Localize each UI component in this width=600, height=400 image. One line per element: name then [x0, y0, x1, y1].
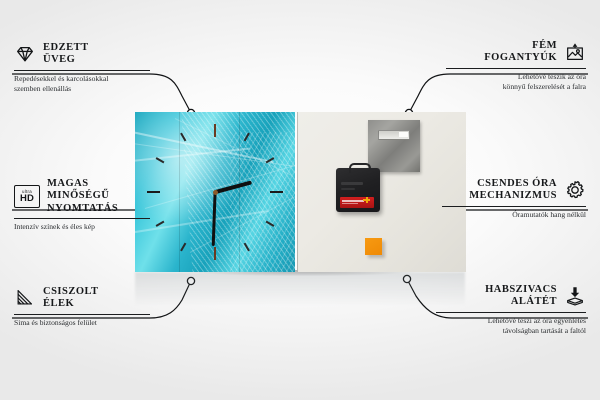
feature-subtitle: Intenzív színek és éles kép: [14, 222, 150, 232]
mechanism-knob: [349, 163, 371, 173]
metal-hanger-bracket: [368, 120, 420, 172]
feature-foam-pad[interactable]: HABSZIVACSALÁTÉT Lehetővé teszi az óra e…: [436, 284, 586, 336]
diamond-icon: [14, 43, 36, 65]
feature-subtitle: Repedésekkel és karcolásokkalszemben ell…: [14, 74, 150, 94]
infographic-canvas: EDZETTÜVEG Repedésekkel és karcolásokkal…: [0, 0, 600, 400]
battery-plus-mark: [363, 197, 370, 203]
product-image: [135, 112, 465, 272]
feature-title: FÉMFOGANTYÚK: [484, 40, 557, 65]
mechanism-detail: [341, 182, 363, 185]
feature-subtitle: Lehetővé teszik az órakönnyű felszerelés…: [446, 72, 586, 92]
feature-silent-mechanism[interactable]: CSENDES ÓRAMECHANIZMUS Óramutatók hang n…: [442, 178, 586, 220]
divider: [442, 206, 586, 207]
feature-title: HABSZIVACSALÁTÉT: [485, 284, 557, 309]
clock-back-panel: [297, 112, 466, 272]
divider: [446, 68, 586, 69]
clock-center-cap: [213, 190, 218, 195]
product-shadow: [137, 270, 467, 284]
feature-title: CSENDES ÓRAMECHANIZMUS: [469, 178, 557, 203]
polished-edge-icon: [14, 287, 36, 309]
divider: [14, 218, 150, 219]
feature-metal-handles[interactable]: FÉMFOGANTYÚK Lehetővé teszik az órakönny…: [446, 40, 586, 92]
feature-title: CSISZOLTÉLEK: [43, 286, 99, 311]
ultra-hd-icon: ultra HD: [14, 185, 40, 208]
clock-tick: [156, 191, 216, 227]
feature-title: EDZETTÜVEG: [43, 42, 89, 67]
clock-front-panel: [135, 112, 295, 272]
hanger-keyhole-slot: [378, 130, 410, 140]
feature-high-quality-print[interactable]: ultra HD MAGAS MINŐSÉGŰNYOMTATÁS Intenzí…: [14, 178, 150, 232]
divider: [436, 312, 586, 313]
quartz-mechanism: [336, 168, 380, 212]
picture-hanger-icon: [564, 41, 586, 63]
battery-label: [340, 197, 374, 208]
feature-subtitle: Óramutatók hang nélkül: [442, 210, 586, 220]
foam-pad-icon: [564, 285, 586, 307]
clock-dial: [135, 112, 295, 272]
clock-tick: [214, 124, 216, 192]
feature-tempered-glass[interactable]: EDZETTÜVEG Repedésekkel és karcolásokkal…: [14, 42, 150, 94]
feature-subtitle: Lehetővé teszi az óra egyenletestávolság…: [436, 316, 586, 336]
clock-tick: [215, 191, 283, 193]
divider: [14, 70, 150, 71]
feature-title: MAGAS MINŐSÉGŰNYOMTATÁS: [47, 178, 150, 215]
mechanism-detail: [341, 188, 355, 190]
feature-polished-edges[interactable]: CSISZOLTÉLEK Sima és biztonságos felület: [14, 286, 150, 328]
clock-tick: [147, 191, 215, 193]
gear-icon: [564, 179, 586, 201]
feature-subtitle: Sima és biztonságos felület: [14, 318, 150, 328]
foam-pad: [365, 238, 382, 255]
divider: [14, 314, 150, 315]
